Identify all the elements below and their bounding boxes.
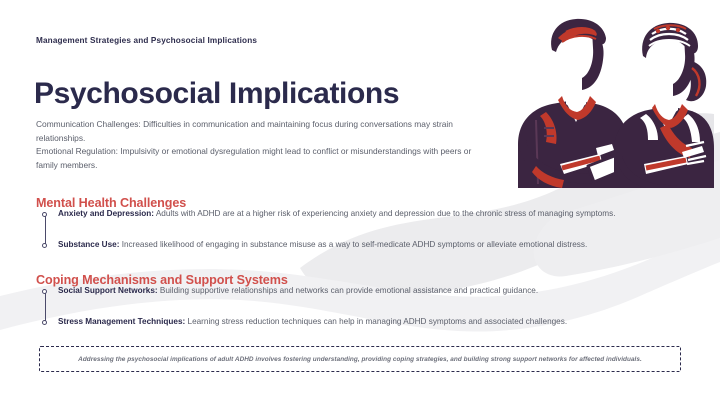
bullet-dot-icon [42,243,47,248]
list-item-text: Social Support Networks: Building suppor… [58,285,538,297]
bullet-group-coping-mechanisms-and-support-systems: Social Support Networks: Building suppor… [40,285,660,330]
intro-paragraph-0: Communication Challenges: Difficulties i… [36,118,486,145]
slide-content: Management Strategies and Psychosocial I… [0,0,720,405]
list-item: Social Support Networks: Building suppor… [40,285,660,299]
list-item-text: Substance Use: Increased likelihood of e… [58,239,587,251]
list-item-body: Learning stress reduction techniques can… [185,317,567,326]
list-item-lead: Anxiety and Depression: [58,209,154,218]
bullet-dot-icon [42,289,47,294]
bullet-group-mental-health-challenges: Anxiety and Depression: Adults with ADHD… [40,208,660,253]
page-title: Psychosocial Implications [34,78,399,110]
list-item: Substance Use: Increased likelihood of e… [40,239,660,253]
list-item-text: Stress Management Techniques: Learning s… [58,316,567,328]
list-item-lead: Stress Management Techniques: [58,317,185,326]
list-item: Stress Management Techniques: Learning s… [40,316,660,330]
footer-note-text: Addressing the psychosocial implications… [68,356,652,363]
intro-paragraphs: Communication Challenges: Difficulties i… [36,118,486,172]
list-item-lead: Social Support Networks: [58,286,158,295]
bullet-dot-icon [42,320,47,325]
list-item-text: Anxiety and Depression: Adults with ADHD… [58,208,615,220]
list-item-body: Adults with ADHD are at a higher risk of… [154,209,615,218]
slide-canvas: Management Strategies and Psychosocial I… [0,0,720,405]
list-item-body: Increased likelihood of engaging in subs… [119,240,587,249]
list-item-lead: Substance Use: [58,240,119,249]
footer-callout-box: Addressing the psychosocial implications… [39,346,681,372]
intro-paragraph-1: Emotional Regulation: Impulsivity or emo… [36,145,486,172]
list-item: Anxiety and Depression: Adults with ADHD… [40,208,660,222]
eyebrow-label: Management Strategies and Psychosocial I… [36,36,257,45]
bullet-dot-icon [42,212,47,217]
list-item-body: Building supportive relationships and ne… [158,286,539,295]
